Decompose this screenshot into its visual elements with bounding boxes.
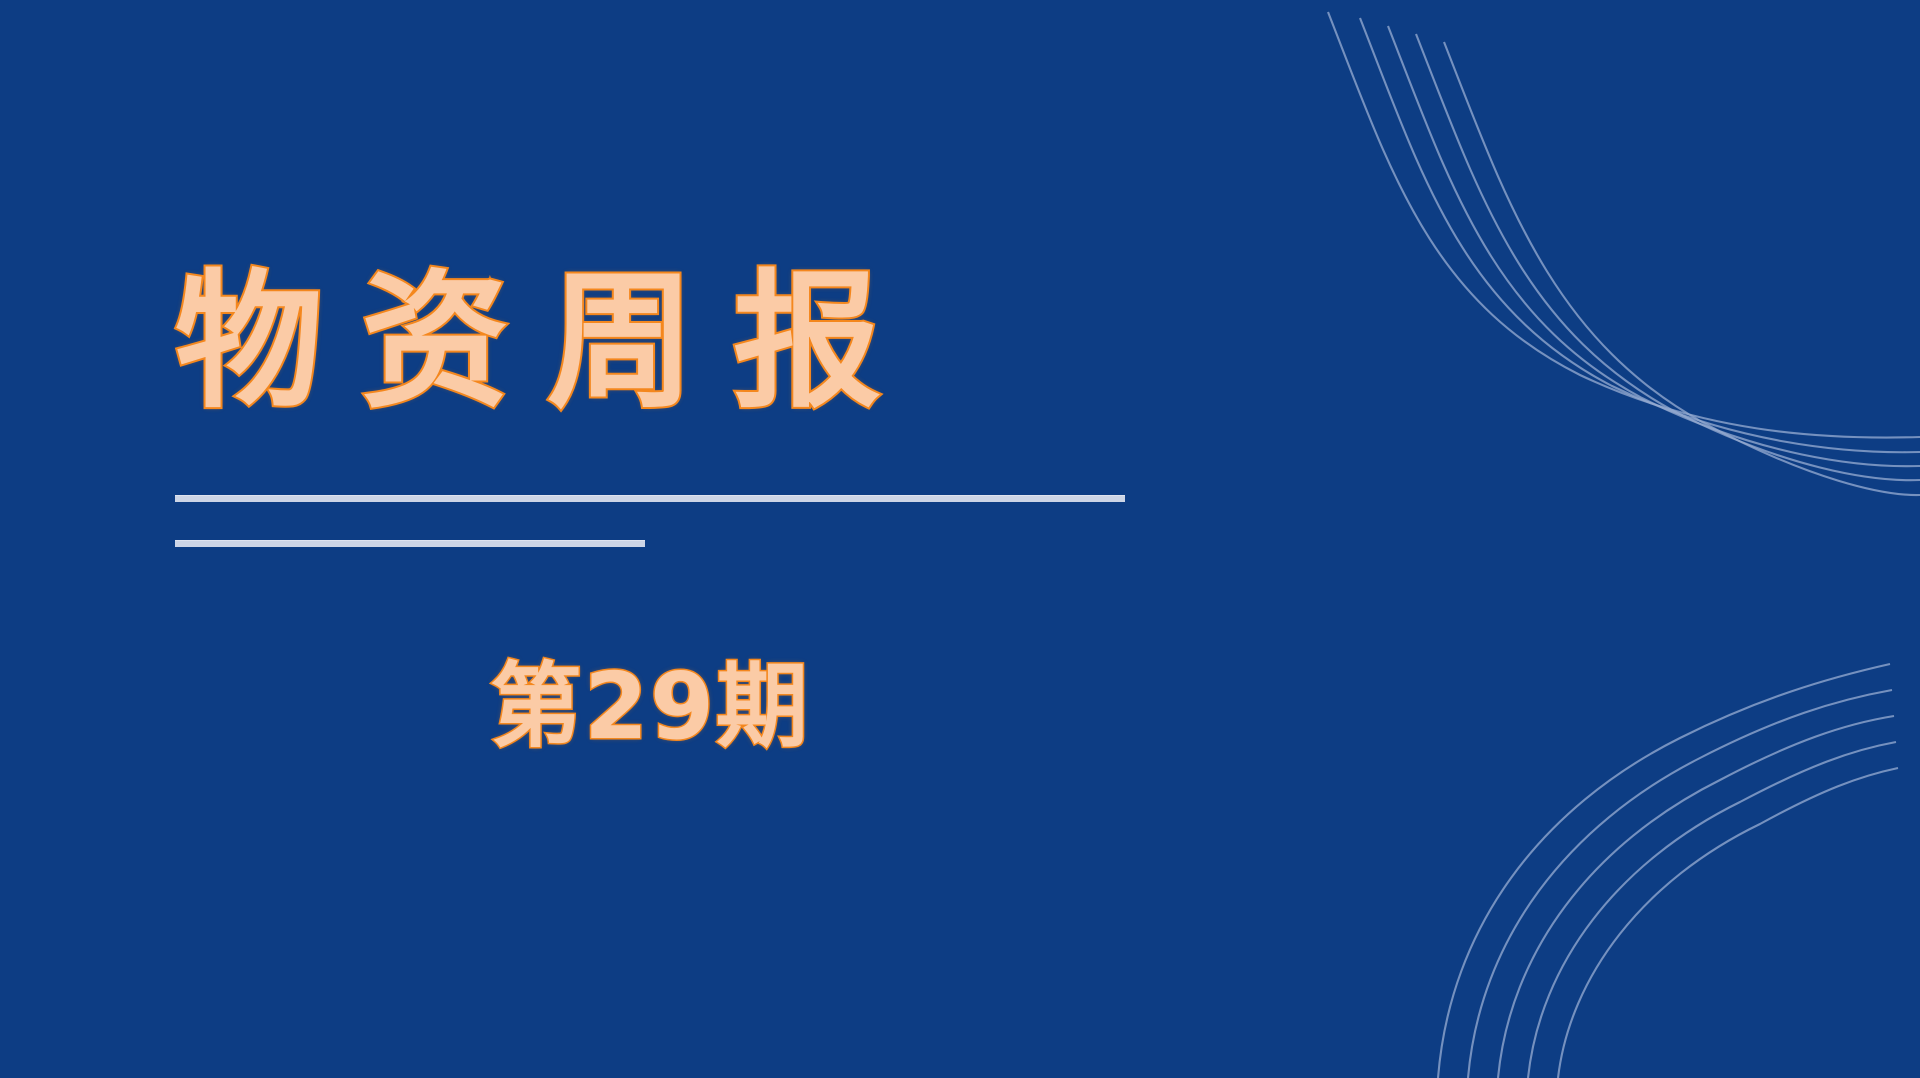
deco-curve-5 [1444, 42, 1920, 495]
curved-lines-bottom-right-decoration [1280, 598, 1920, 1078]
curved-lines-top-right-decoration [1280, 0, 1920, 520]
deco-curve-3 [1388, 26, 1920, 466]
title-underline-short [175, 540, 645, 547]
deco-arc-1 [1438, 664, 1890, 1078]
deco-arc-4 [1528, 742, 1896, 1078]
curved-lines-top-right-svg [1280, 0, 1920, 520]
deco-arc-3 [1498, 716, 1894, 1078]
deco-curve-2 [1360, 18, 1920, 452]
title-slide: 物资周报 第29期 [0, 0, 1920, 1078]
page-title: 物资周报 [175, 268, 1175, 416]
title-block: 物资周报 [175, 268, 1175, 416]
issue-number-label: 第29期 [175, 655, 1125, 758]
deco-curve-4 [1416, 34, 1920, 480]
curved-lines-bottom-right-svg [1280, 598, 1920, 1078]
deco-arc-5 [1558, 768, 1898, 1078]
deco-curve-1 [1328, 12, 1920, 438]
title-underline-long [175, 495, 1125, 502]
deco-arc-2 [1468, 690, 1892, 1078]
